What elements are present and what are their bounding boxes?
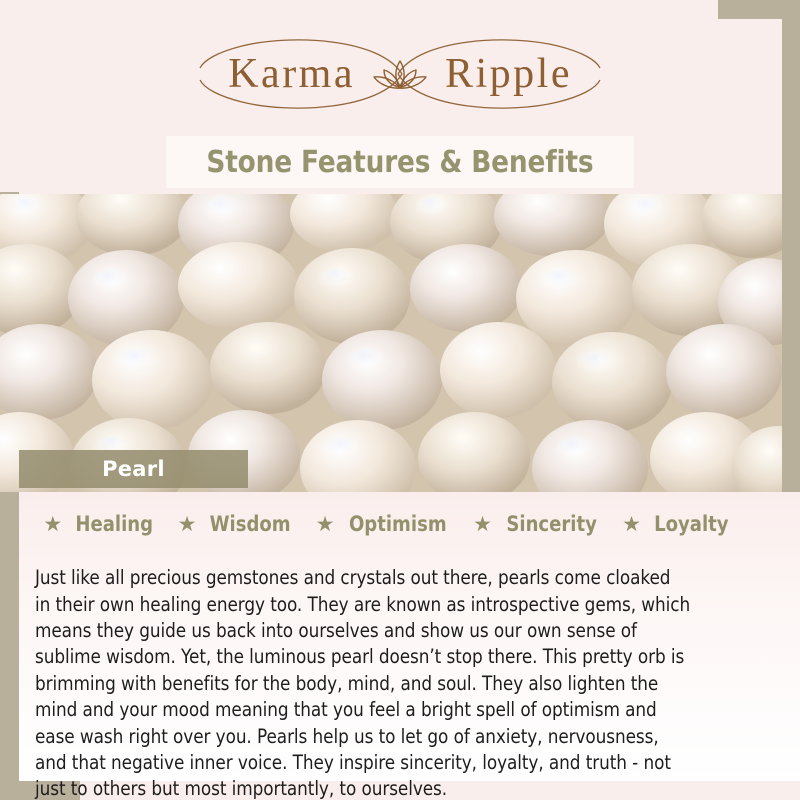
stone-name: Pearl [102, 457, 165, 481]
star-icon: ★ [316, 514, 335, 535]
background-panel-top [0, 0, 718, 19]
keyword-item: ★ Sincerity [473, 514, 604, 535]
star-icon: ★ [473, 514, 492, 535]
keyword-list: ★ Healing ★ Wisdom ★ Optimism ★ Sincerit… [19, 514, 759, 535]
page-title: Stone Features & Benefits [206, 145, 593, 180]
logo-word-left: Karma [175, 53, 369, 95]
star-icon: ★ [622, 514, 641, 535]
keyword-label: Loyalty [654, 514, 728, 535]
brand-logo: Karma Ripple [0, 30, 800, 118]
title-band: Stone Features & Benefits [166, 136, 634, 188]
lotus-icon [369, 52, 431, 96]
keyword-label: Wisdom [210, 514, 291, 535]
keyword-label: Healing [76, 514, 154, 535]
stone-name-band: Pearl [19, 450, 248, 488]
keyword-label: Sincerity [506, 514, 597, 535]
pearl-photo-image [0, 194, 782, 492]
keyword-item: ★ Optimism [316, 514, 455, 535]
keyword-label: Optimism [349, 514, 447, 535]
keyword-item: ★ Wisdom [178, 514, 298, 535]
poster-root: Karma Ripple Stone Featur [0, 0, 800, 800]
pearl-photo [0, 194, 782, 492]
star-icon: ★ [43, 514, 62, 535]
keyword-item: ★ Healing [43, 514, 159, 535]
star-icon: ★ [178, 514, 197, 535]
logo-word-right: Ripple [431, 53, 625, 95]
content-panel: ★ Healing ★ Wisdom ★ Optimism ★ Sincerit… [19, 492, 800, 781]
keyword-item: ★ Loyalty [622, 514, 734, 535]
description-paragraph: Just like all precious gemstones and cry… [35, 565, 691, 800]
